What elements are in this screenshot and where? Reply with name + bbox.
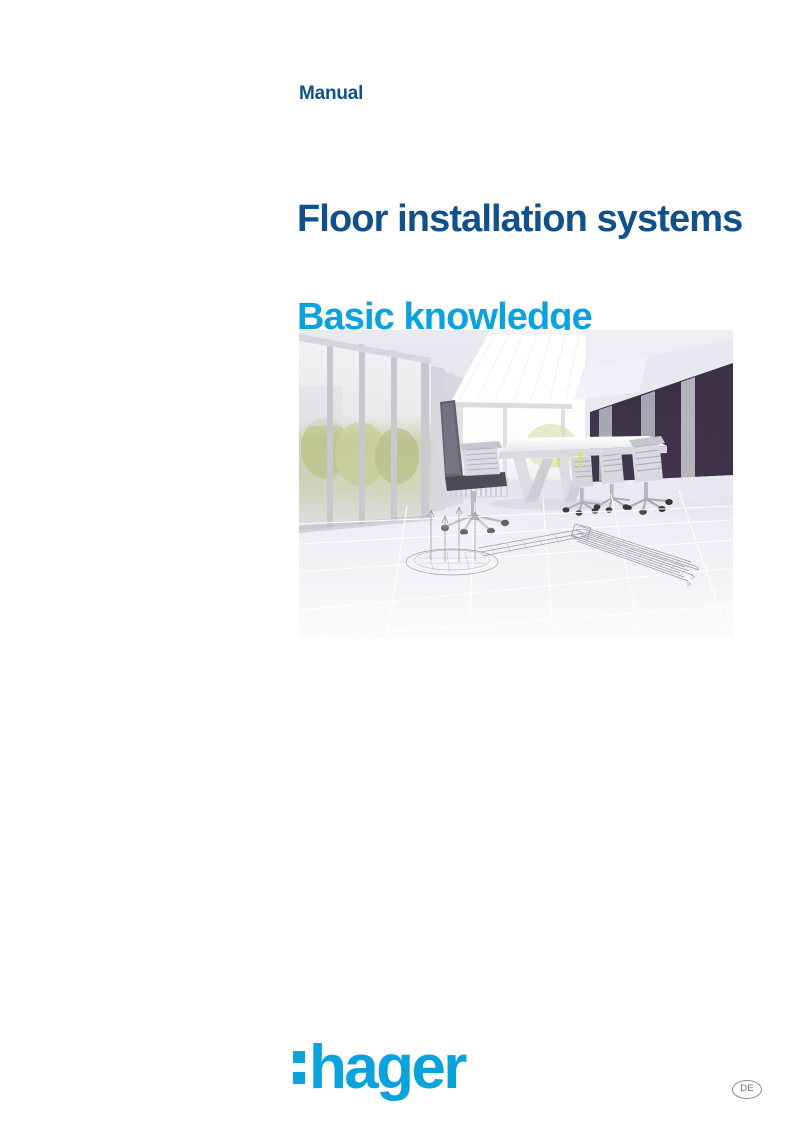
office-interior-illustration (299, 330, 733, 638)
logo-wordmark: hager (309, 1037, 465, 1099)
light-wash (299, 330, 733, 638)
page-title: Floor installation systems (297, 200, 742, 238)
document-type-label: Manual (299, 84, 363, 103)
hager-logo: hager (293, 1036, 465, 1100)
logo-colon-icon (293, 1049, 305, 1088)
language-badge: DE (732, 1080, 762, 1099)
cover-page: Manual Floor installation systems Basic … (0, 0, 802, 1134)
cover-image (299, 330, 733, 638)
